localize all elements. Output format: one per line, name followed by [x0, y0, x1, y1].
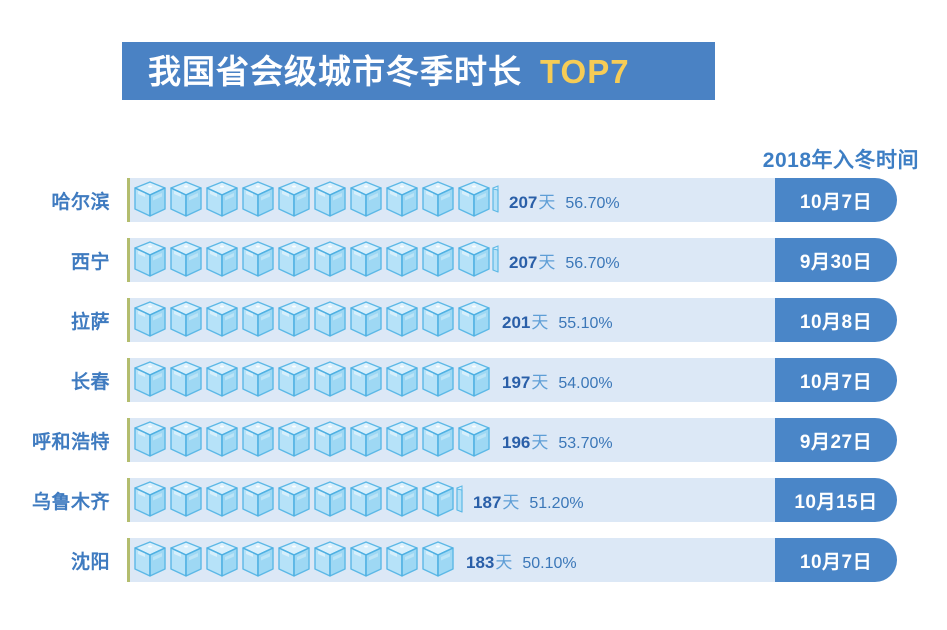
ice-cube-series	[132, 538, 456, 582]
ice-cube-partial-icon	[456, 480, 463, 520]
ice-cube-icon	[420, 420, 456, 460]
ice-cube-icon	[132, 540, 168, 580]
ice-cube-icon	[384, 540, 420, 580]
ice-cube-icon	[420, 420, 456, 460]
ice-cube-series	[132, 238, 499, 282]
duration-days-number: 207	[509, 193, 537, 213]
ice-cube-icon	[168, 540, 204, 580]
city-name-label: 呼和浩特	[0, 418, 112, 462]
ice-cube-icon	[276, 300, 312, 340]
ice-cube-icon	[348, 480, 384, 520]
ice-cube-icon	[456, 240, 492, 280]
ice-cube-series	[132, 478, 463, 522]
ranking-row: 沈阳	[0, 538, 947, 582]
ice-cube-icon	[132, 240, 168, 280]
city-name-label: 拉萨	[0, 298, 112, 342]
ice-cube-icon	[276, 420, 312, 460]
ice-cube-icon	[348, 420, 384, 460]
ice-cube-icon	[420, 240, 456, 280]
page-title: 我国省会级城市冬季时长	[148, 55, 522, 88]
ranking-row: 长春	[0, 358, 947, 402]
ice-cube-icon	[204, 240, 240, 280]
ice-cube-icon	[132, 300, 168, 340]
duration-percent: 51.20%	[529, 495, 583, 513]
ice-cube-icon	[456, 360, 492, 400]
ice-cube-icon	[276, 360, 312, 400]
ice-cube-icon	[132, 180, 168, 220]
ice-cube-icon	[240, 360, 276, 400]
ice-cube-icon	[312, 480, 348, 520]
ice-cube-icon	[168, 300, 204, 340]
duration-values: 197天 54.00%	[502, 368, 613, 393]
ice-cube-icon	[348, 360, 384, 400]
duration-days-unit: 天	[531, 368, 548, 393]
ice-cube-icon	[204, 540, 240, 580]
ice-cube-partial-icon	[492, 180, 499, 220]
ice-cube-icon	[420, 180, 456, 220]
ice-cube-icon	[168, 300, 204, 340]
title-rank-accent: TOP7	[540, 55, 630, 88]
ice-cube-icon	[312, 360, 348, 400]
city-name-label: 乌鲁木齐	[0, 478, 112, 522]
ice-cube-icon	[276, 420, 312, 460]
city-name-label: 西宁	[0, 238, 112, 282]
ice-cube-icon	[456, 240, 492, 280]
ice-cube-icon	[204, 480, 240, 520]
ice-cube-icon	[384, 360, 420, 400]
ice-cube-icon	[348, 180, 384, 220]
duration-bar-track: 197天 54.00%	[127, 358, 775, 402]
ice-cube-icon	[420, 300, 456, 340]
ice-cube-icon	[456, 180, 492, 220]
ice-cube-icon	[276, 180, 312, 220]
ice-cube-icon	[276, 360, 312, 400]
ice-cube-icon	[276, 540, 312, 580]
duration-days-number: 201	[502, 313, 530, 333]
ice-cube-icon	[348, 540, 384, 580]
ice-cube-icon	[312, 420, 348, 460]
duration-days-unit: 天	[495, 548, 512, 573]
winter-start-date-pill: 10月8日	[775, 298, 897, 342]
ice-cube-icon	[384, 180, 420, 220]
ice-cube-icon	[276, 480, 312, 520]
ice-cube-icon	[168, 420, 204, 460]
ice-cube-icon	[204, 300, 240, 340]
duration-values: 196天 53.70%	[502, 428, 613, 453]
ice-cube-icon	[348, 240, 384, 280]
ice-cube-icon	[276, 240, 312, 280]
ice-cube-icon	[132, 480, 168, 520]
ice-cube-partial-icon	[492, 240, 499, 280]
ice-cube-icon	[420, 480, 456, 520]
ice-cube-icon	[132, 240, 168, 280]
ice-cube-icon	[312, 180, 348, 220]
city-name-label: 哈尔滨	[0, 178, 112, 222]
duration-days-unit: 天	[538, 248, 555, 273]
ice-cube-icon	[204, 360, 240, 400]
ice-cube-icon	[168, 360, 204, 400]
ice-cube-icon	[204, 480, 240, 520]
ice-cube-icon	[168, 180, 204, 220]
winter-start-date-pill: 10月15日	[775, 478, 897, 522]
ice-cube-icon	[240, 420, 276, 460]
ice-cube-icon	[348, 300, 384, 340]
ice-cube-icon	[132, 540, 168, 580]
city-name-label: 长春	[0, 358, 112, 402]
ice-cube-icon	[132, 480, 168, 520]
ice-cube-icon	[348, 480, 384, 520]
winter-start-date-pill: 9月27日	[775, 418, 897, 462]
ice-cube-icon	[240, 240, 276, 280]
ice-cube-icon	[204, 420, 240, 460]
ice-cube-icon	[276, 540, 312, 580]
duration-days-number: 207	[509, 253, 537, 273]
ice-cube-icon	[456, 420, 492, 460]
ice-cube-icon	[132, 180, 168, 220]
ice-cube-icon	[420, 360, 456, 400]
ice-cube-icon	[312, 300, 348, 340]
ice-cube-icon	[456, 300, 492, 340]
ice-cube-icon	[168, 420, 204, 460]
ice-cube-icon	[384, 240, 420, 280]
ice-cube-icon	[204, 300, 240, 340]
duration-values: 207天 56.70%	[509, 248, 620, 273]
ice-cube-series	[132, 358, 492, 402]
duration-bar-track: 207天 56.70%	[127, 178, 775, 222]
ice-cube-icon	[456, 420, 492, 460]
ice-cube-icon	[312, 360, 348, 400]
ice-cube-icon	[312, 240, 348, 280]
ice-cube-icon	[420, 300, 456, 340]
ice-cube-icon	[420, 480, 456, 520]
ranking-row: 西宁	[0, 238, 947, 282]
ice-cube-icon	[384, 300, 420, 340]
ice-cube-icon	[168, 240, 204, 280]
ice-cube-icon	[240, 540, 276, 580]
ice-cube-icon	[168, 180, 204, 220]
duration-days-unit: 天	[538, 188, 555, 213]
ice-cube-icon	[420, 360, 456, 400]
winter-start-date-pill: 9月30日	[775, 238, 897, 282]
ice-cube-icon	[204, 420, 240, 460]
duration-days-number: 187	[473, 493, 501, 513]
ice-cube-icon	[276, 180, 312, 220]
ice-cube-icon	[240, 420, 276, 460]
ranking-row: 呼和浩特	[0, 418, 947, 462]
ice-cube-icon	[312, 480, 348, 520]
ice-cube-icon	[240, 300, 276, 340]
ice-cube-series	[132, 418, 492, 462]
duration-days-number: 197	[502, 373, 530, 393]
ice-cube-icon	[204, 180, 240, 220]
ice-cube-icon	[384, 360, 420, 400]
ice-cube-icon	[276, 240, 312, 280]
ice-cube-series	[132, 178, 499, 222]
ice-cube-icon	[456, 180, 492, 220]
ice-cube-icon	[132, 360, 168, 400]
duration-days-unit: 天	[502, 488, 519, 513]
ice-cube-icon	[456, 300, 492, 340]
ice-cube-icon	[276, 300, 312, 340]
duration-days-unit: 天	[531, 308, 548, 333]
ice-cube-icon	[168, 240, 204, 280]
ice-cube-icon	[132, 420, 168, 460]
ice-cube-icon	[312, 180, 348, 220]
ice-cube-icon	[348, 540, 384, 580]
ice-cube-icon	[240, 480, 276, 520]
ice-cube-icon	[312, 420, 348, 460]
duration-values: 183天 50.10%	[466, 548, 577, 573]
ice-cube-icon	[132, 300, 168, 340]
ice-cube-partial-icon	[456, 480, 463, 520]
ice-cube-icon	[420, 180, 456, 220]
column-header-winter-start-date: 2018年入冬时间	[763, 144, 919, 174]
ice-cube-icon	[312, 300, 348, 340]
ice-cube-icon	[348, 300, 384, 340]
ice-cube-icon	[384, 300, 420, 340]
ice-cube-icon	[132, 420, 168, 460]
ranking-list: 哈尔滨	[0, 178, 947, 598]
duration-percent: 53.70%	[558, 435, 612, 453]
ice-cube-icon	[384, 420, 420, 460]
ice-cube-icon	[348, 240, 384, 280]
ice-cube-partial-icon	[492, 240, 499, 280]
ice-cube-icon	[384, 240, 420, 280]
duration-bar-track: 183天 50.10%	[127, 538, 775, 582]
duration-days-number: 183	[466, 553, 494, 573]
ranking-row: 哈尔滨	[0, 178, 947, 222]
ice-cube-icon	[240, 180, 276, 220]
ice-cube-icon	[348, 180, 384, 220]
ice-cube-icon	[240, 300, 276, 340]
ice-cube-icon	[348, 420, 384, 460]
duration-days-unit: 天	[531, 428, 548, 453]
ice-cube-icon	[384, 480, 420, 520]
winter-start-date-pill: 10月7日	[775, 358, 897, 402]
duration-values: 201天 55.10%	[502, 308, 613, 333]
ice-cube-icon	[240, 240, 276, 280]
ranking-row: 拉萨	[0, 298, 947, 342]
ice-cube-icon	[276, 480, 312, 520]
ice-cube-icon	[168, 540, 204, 580]
ice-cube-icon	[240, 540, 276, 580]
ice-cube-icon	[312, 540, 348, 580]
ice-cube-icon	[384, 180, 420, 220]
ice-cube-icon	[420, 540, 456, 580]
ice-cube-icon	[168, 480, 204, 520]
ice-cube-icon	[384, 540, 420, 580]
infographic-title-bar: 我国省会级城市冬季时长 TOP7	[122, 42, 715, 100]
ice-cube-partial-icon	[492, 180, 499, 220]
ice-cube-icon	[312, 540, 348, 580]
duration-percent: 55.10%	[558, 315, 612, 333]
ice-cube-icon	[240, 360, 276, 400]
duration-bar-track: 196天 53.70%	[127, 418, 775, 462]
ice-cube-icon	[168, 360, 204, 400]
duration-bar-track: 207天 56.70%	[127, 238, 775, 282]
duration-values: 207天 56.70%	[509, 188, 620, 213]
duration-values: 187天 51.20%	[473, 488, 584, 513]
winter-start-date-pill: 10月7日	[775, 178, 897, 222]
duration-bar-track: 201天 55.10%	[127, 298, 775, 342]
ice-cube-icon	[420, 540, 456, 580]
ice-cube-icon	[132, 360, 168, 400]
ice-cube-icon	[204, 180, 240, 220]
ice-cube-icon	[240, 480, 276, 520]
ice-cube-icon	[456, 360, 492, 400]
ranking-row: 乌鲁木齐	[0, 478, 947, 522]
ice-cube-series	[132, 298, 492, 342]
duration-days-number: 196	[502, 433, 530, 453]
ice-cube-icon	[240, 180, 276, 220]
ice-cube-icon	[312, 240, 348, 280]
ice-cube-icon	[348, 360, 384, 400]
duration-percent: 54.00%	[558, 375, 612, 393]
ice-cube-icon	[168, 480, 204, 520]
ice-cube-icon	[384, 480, 420, 520]
ice-cube-icon	[204, 240, 240, 280]
ice-cube-icon	[384, 420, 420, 460]
ice-cube-icon	[204, 360, 240, 400]
city-name-label: 沈阳	[0, 538, 112, 582]
duration-bar-track: 187天 51.20%	[127, 478, 775, 522]
duration-percent: 56.70%	[565, 195, 619, 213]
ice-cube-icon	[420, 240, 456, 280]
duration-percent: 50.10%	[522, 555, 576, 573]
winter-start-date-pill: 10月7日	[775, 538, 897, 582]
duration-percent: 56.70%	[565, 255, 619, 273]
ice-cube-icon	[204, 540, 240, 580]
